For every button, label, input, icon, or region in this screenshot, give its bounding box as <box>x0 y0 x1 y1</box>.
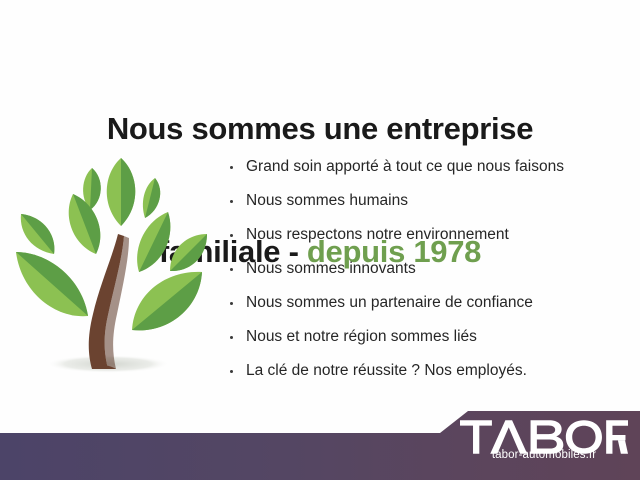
bullet-dot-icon <box>230 370 233 373</box>
list-item: Nous sommes humains <box>228 184 628 218</box>
list-item-label: Grand soin apporté à tout ce que nous fa… <box>246 158 564 175</box>
leaf-upper-right-small <box>143 178 160 218</box>
value-bullet-list: Grand soin apporté à tout ce que nous fa… <box>228 150 628 388</box>
list-item-label: La clé de notre réussite ? Nos employés. <box>246 362 527 379</box>
leaf-far-left <box>21 214 55 254</box>
leaf-lower-left <box>16 252 88 316</box>
list-item: Nous respectons notre environnement <box>228 218 628 252</box>
bullet-dot-icon <box>230 336 233 339</box>
list-item-label: Nous respectons notre environnement <box>246 226 509 243</box>
bullet-dot-icon <box>230 302 233 305</box>
leaf-far-right <box>170 234 207 271</box>
list-item: Nous sommes un partenaire de confiance <box>228 286 628 320</box>
list-item: Nous sommes innovants <box>228 252 628 286</box>
bullet-dot-icon <box>230 166 233 169</box>
list-item: Nous et notre région sommes liés <box>228 320 628 354</box>
leaf-mid-right <box>137 212 170 272</box>
bullet-dot-icon <box>230 234 233 237</box>
list-item-label: Nous sommes un partenaire de confiance <box>246 294 533 311</box>
tabor-logo[interactable]: tabor-automobiles.fr TABOR <box>460 413 628 461</box>
footer-band: tabor-automobiles.fr TABOR <box>0 405 640 480</box>
bullet-dot-icon <box>230 200 233 203</box>
leaf-top-center <box>107 158 136 226</box>
list-item-label: Nous et notre région sommes liés <box>246 328 477 345</box>
slide-canvas: Nous sommes une entreprise familiale - d… <box>0 0 640 480</box>
title-line-1: Nous sommes une entreprise <box>0 108 640 149</box>
list-item: Grand soin apporté à tout ce que nous fa… <box>228 150 628 184</box>
bullet-dot-icon <box>230 268 233 271</box>
list-item-label: Nous sommes humains <box>246 192 408 209</box>
leaf-lower-right <box>132 272 202 331</box>
list-item-label: Nous sommes innovants <box>246 260 416 277</box>
tree-illustration <box>8 150 223 385</box>
tabor-wordmark-icon <box>460 413 628 446</box>
list-item: La clé de notre réussite ? Nos employés. <box>228 354 628 388</box>
